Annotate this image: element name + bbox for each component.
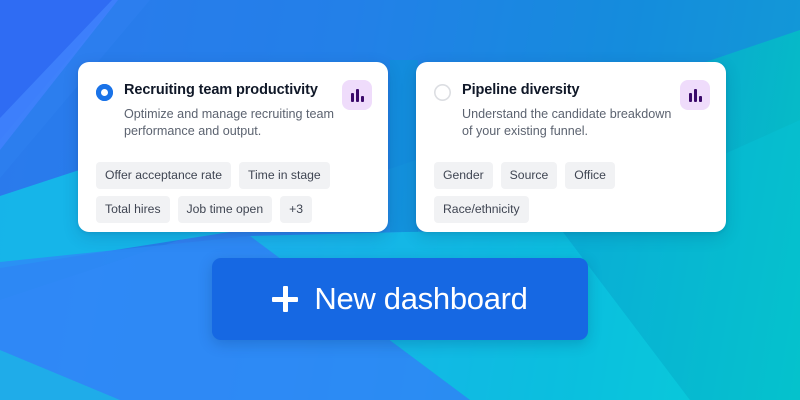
background-canvas: Recruiting team productivity Optimize an… xyxy=(0,0,800,400)
tag-chip[interactable]: Gender xyxy=(434,162,493,189)
bar-chart-bar-2 xyxy=(694,89,697,102)
radio-checked-icon[interactable] xyxy=(96,84,113,101)
tag-chip[interactable]: Offer acceptance rate xyxy=(96,162,231,189)
card-tag-list: Offer acceptance rate Time in stage Tota… xyxy=(96,162,374,223)
bar-chart-bar-3 xyxy=(361,96,364,102)
tag-chip[interactable]: Race/ethnicity xyxy=(434,196,529,223)
radio-unchecked-icon[interactable] xyxy=(434,84,451,101)
card-header: Recruiting team productivity Optimize an… xyxy=(78,62,388,139)
card-description: Understand the candidate breakdown of yo… xyxy=(462,106,677,139)
bar-chart-bar-1 xyxy=(689,93,692,102)
card-description: Optimize and manage recruiting team perf… xyxy=(124,106,339,139)
dashboard-template-card-recruiting-team-productivity[interactable]: Recruiting team productivity Optimize an… xyxy=(78,62,388,232)
bar-chart-bar-3 xyxy=(699,96,702,102)
tag-chip[interactable]: Job time open xyxy=(178,196,273,223)
bar-chart-bar-2 xyxy=(356,89,359,102)
bar-chart-icon xyxy=(342,80,372,110)
tag-chip-overflow-count[interactable]: +3 xyxy=(280,196,312,223)
tag-chip[interactable]: Time in stage xyxy=(239,162,330,189)
tag-chip[interactable]: Source xyxy=(501,162,558,189)
tag-chip[interactable]: Office xyxy=(565,162,615,189)
card-tag-list: Gender Source Office Race/ethnicity xyxy=(434,162,712,223)
plus-icon xyxy=(272,286,298,312)
card-title: Recruiting team productivity xyxy=(124,82,370,99)
dashboard-template-card-pipeline-diversity[interactable]: Pipeline diversity Understand the candid… xyxy=(416,62,726,232)
card-title: Pipeline diversity xyxy=(462,82,708,99)
tag-chip[interactable]: Total hires xyxy=(96,196,170,223)
new-dashboard-button-label: New dashboard xyxy=(314,281,527,317)
card-header: Pipeline diversity Understand the candid… xyxy=(416,62,726,139)
bar-chart-bar-1 xyxy=(351,93,354,102)
bar-chart-icon xyxy=(680,80,710,110)
new-dashboard-button[interactable]: New dashboard xyxy=(212,258,588,340)
